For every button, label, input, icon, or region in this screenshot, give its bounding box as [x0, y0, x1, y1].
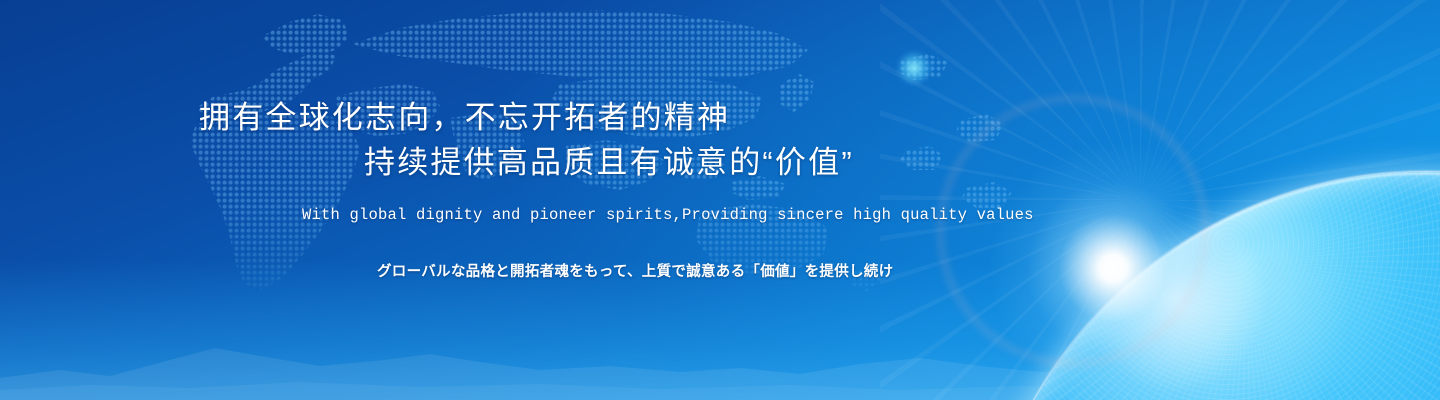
- hero-banner: 拥有全球化志向，不忘开拓者的精神 持续提供高品质且有诚意的“价值” With g…: [0, 0, 1440, 400]
- headline-line-2: 持续提供高品质且有诚意的“价值”: [364, 137, 854, 182]
- banner-copy: 拥有全球化志向，不忘开拓者的精神 持续提供高品质且有诚意的“价值” With g…: [0, 0, 1060, 400]
- headline-line-1: 拥有全球化志向，不忘开拓者的精神: [199, 92, 730, 137]
- subtitle-japanese: グローバルな品格と開拓者魂をもって、上質で誠意ある「価値」を提供し続け: [377, 260, 893, 281]
- subtitle-english: With global dignity and pioneer spirits,…: [302, 206, 1034, 224]
